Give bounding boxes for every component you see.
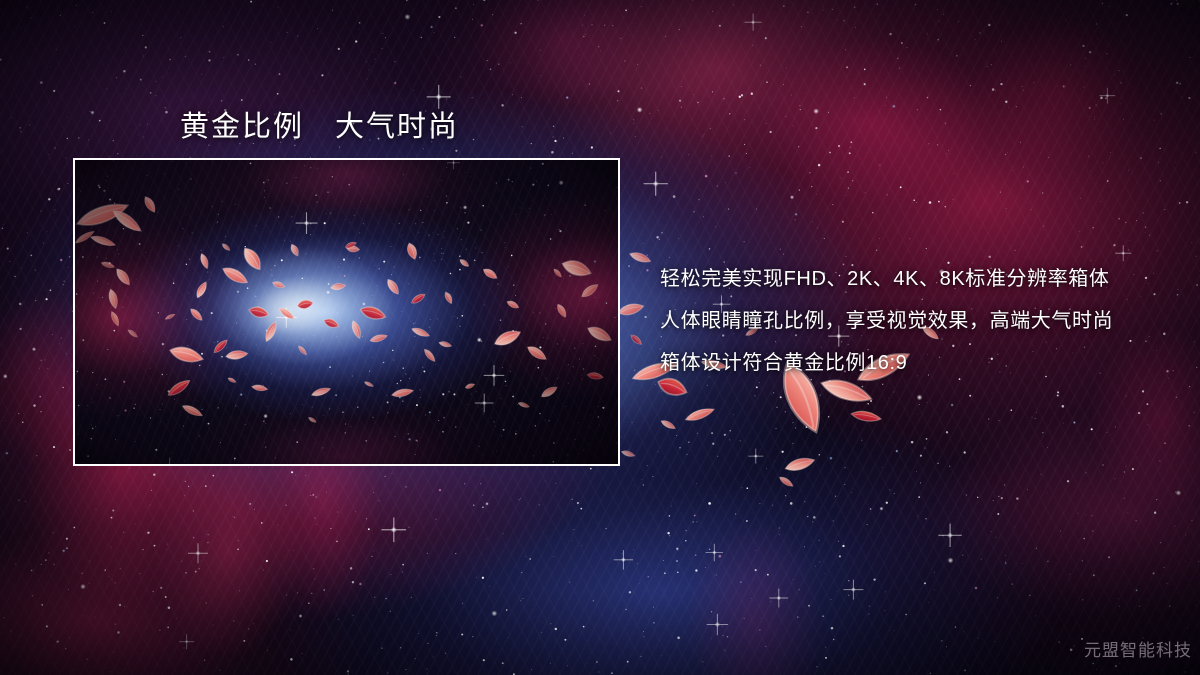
- feature-line-2: 人体眼睛瞳孔比例，享受视觉效果，高端大气时尚: [660, 300, 1180, 342]
- presentation-slide: 黄金比例 大气时尚 轻松完美实现FHD、2K、4K、8K标准分辨率箱体 人体眼睛…: [0, 0, 1200, 675]
- feature-line-1: 轻松完美实现FHD、2K、4K、8K标准分辨率箱体: [660, 258, 1180, 300]
- starfield-framed: [75, 160, 618, 464]
- company-watermark: 元盟智能科技: [1084, 636, 1192, 661]
- petal-overlay-framed: [75, 160, 618, 464]
- framed-nebula-core: [75, 160, 618, 464]
- framed-nebula-wisps: [75, 160, 618, 464]
- framed-image-panel[interactable]: [73, 158, 620, 466]
- framed-vignette: [75, 160, 618, 464]
- page-title: 黄金比例 大气时尚: [180, 103, 459, 145]
- framed-nebula-base: [75, 160, 618, 464]
- feature-description-block: 轻松完美实现FHD、2K、4K、8K标准分辨率箱体 人体眼睛瞳孔比例，享受视觉效…: [660, 258, 1180, 384]
- feature-line-3: 箱体设计符合黄金比例16:9: [660, 342, 1180, 384]
